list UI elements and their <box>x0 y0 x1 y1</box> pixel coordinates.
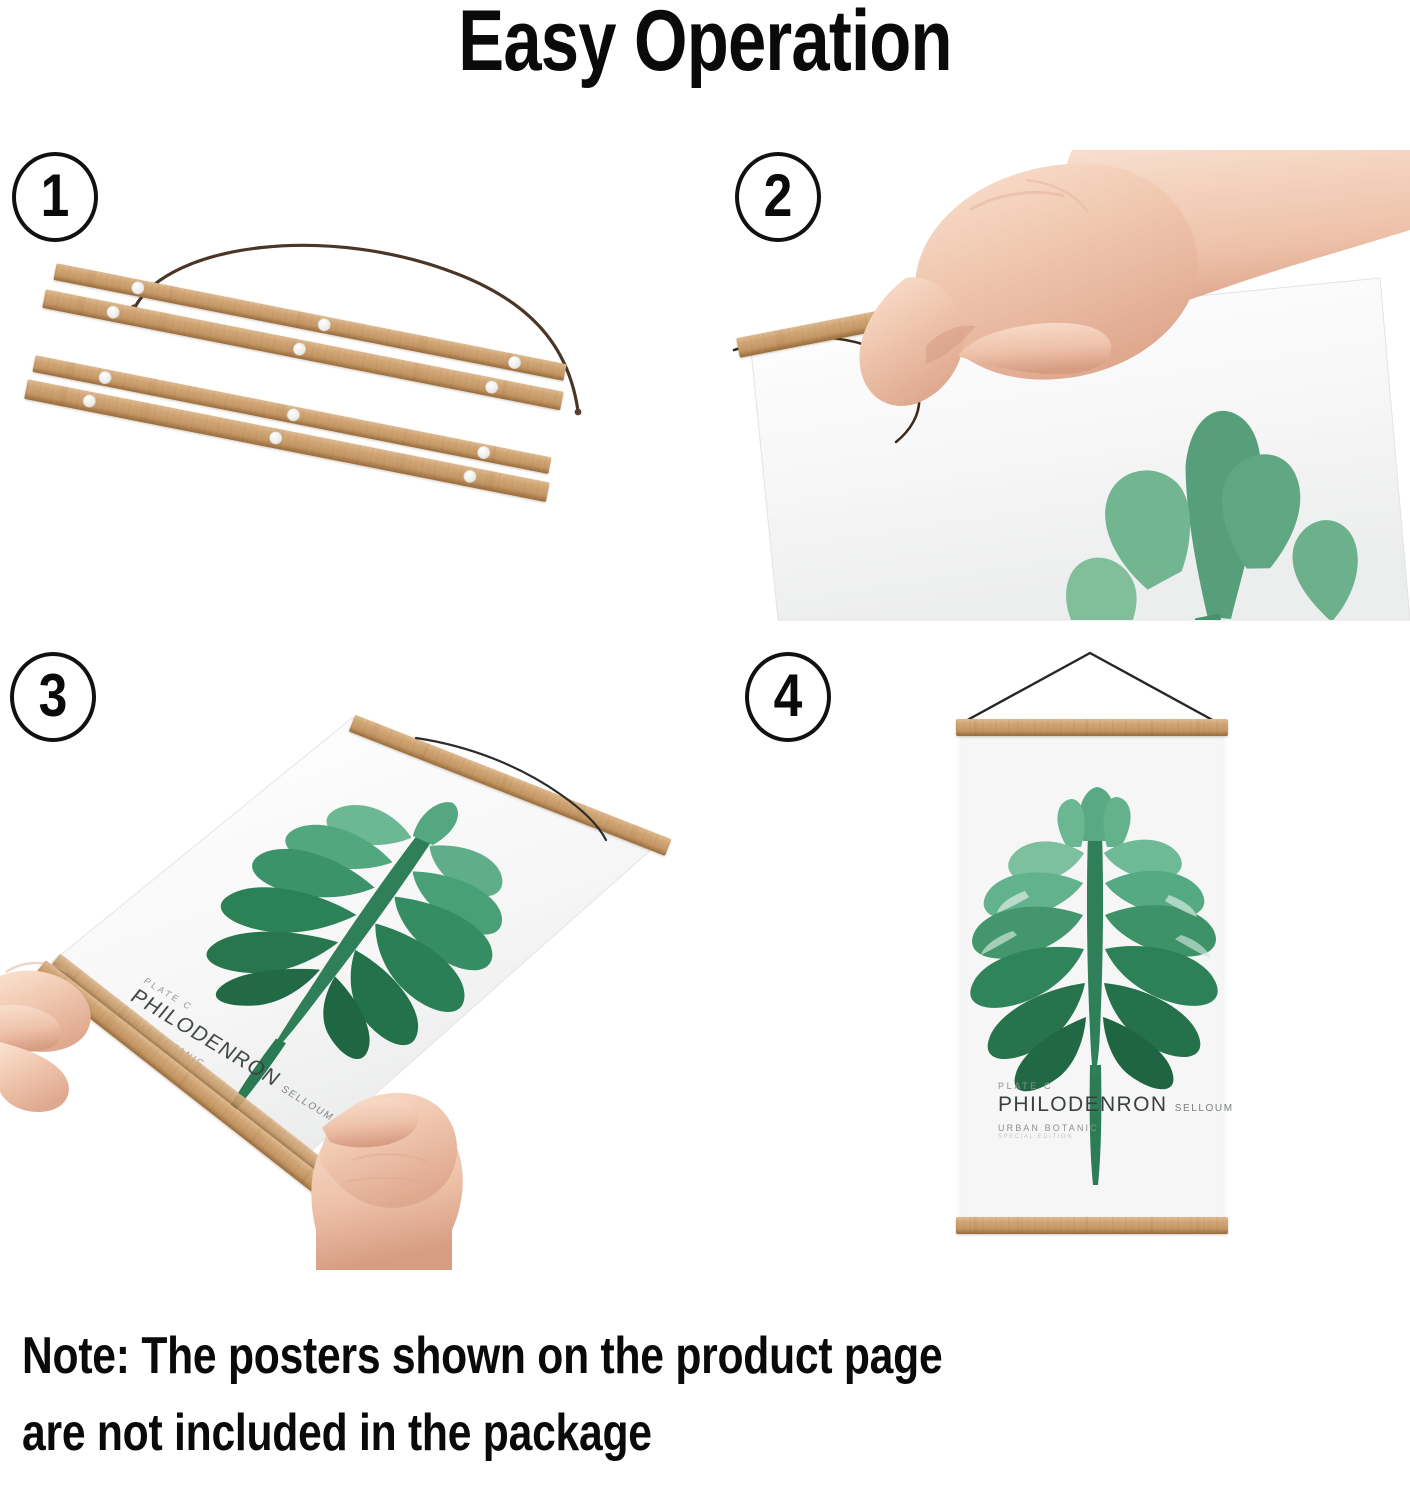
frame-rail-bottom <box>956 1217 1228 1234</box>
caption-name: PHILODENRON SELLOUM <box>998 1092 1234 1118</box>
caption-plate: PLATE C <box>998 1081 1234 1092</box>
caption-subtitle: URBAN BOTANIC <box>998 1123 1234 1134</box>
caption-subtitle-small: SPECIAL EDITION <box>998 1134 1234 1142</box>
poster-caption: PLATE C PHILODENRON SELLOUM URBAN BOTANI… <box>998 1081 1234 1141</box>
note-text: Note: The posters shown on the product p… <box>22 1318 1154 1472</box>
note-line-2: are not included in the package <box>22 1395 1154 1472</box>
step-4-illustration: PLATE C PHILODENRON SELLOUM URBAN BOTANI… <box>900 645 1360 1285</box>
frame-rail-top <box>956 719 1228 736</box>
step-1-illustration <box>30 215 670 585</box>
instruction-sheet: Easy Operation 1 2 3 4 <box>0 0 1410 1497</box>
page-title: Easy Operation <box>141 0 1269 86</box>
step-2-illustration <box>720 150 1410 620</box>
step-badge-4: 4 <box>745 652 831 742</box>
badge-number: 4 <box>751 652 825 742</box>
note-line-1: Note: The posters shown on the product p… <box>22 1318 1154 1395</box>
step-3-illustration: PLATE C PHILODENRON SELLOUM URBAN BOTANI… <box>0 690 700 1270</box>
